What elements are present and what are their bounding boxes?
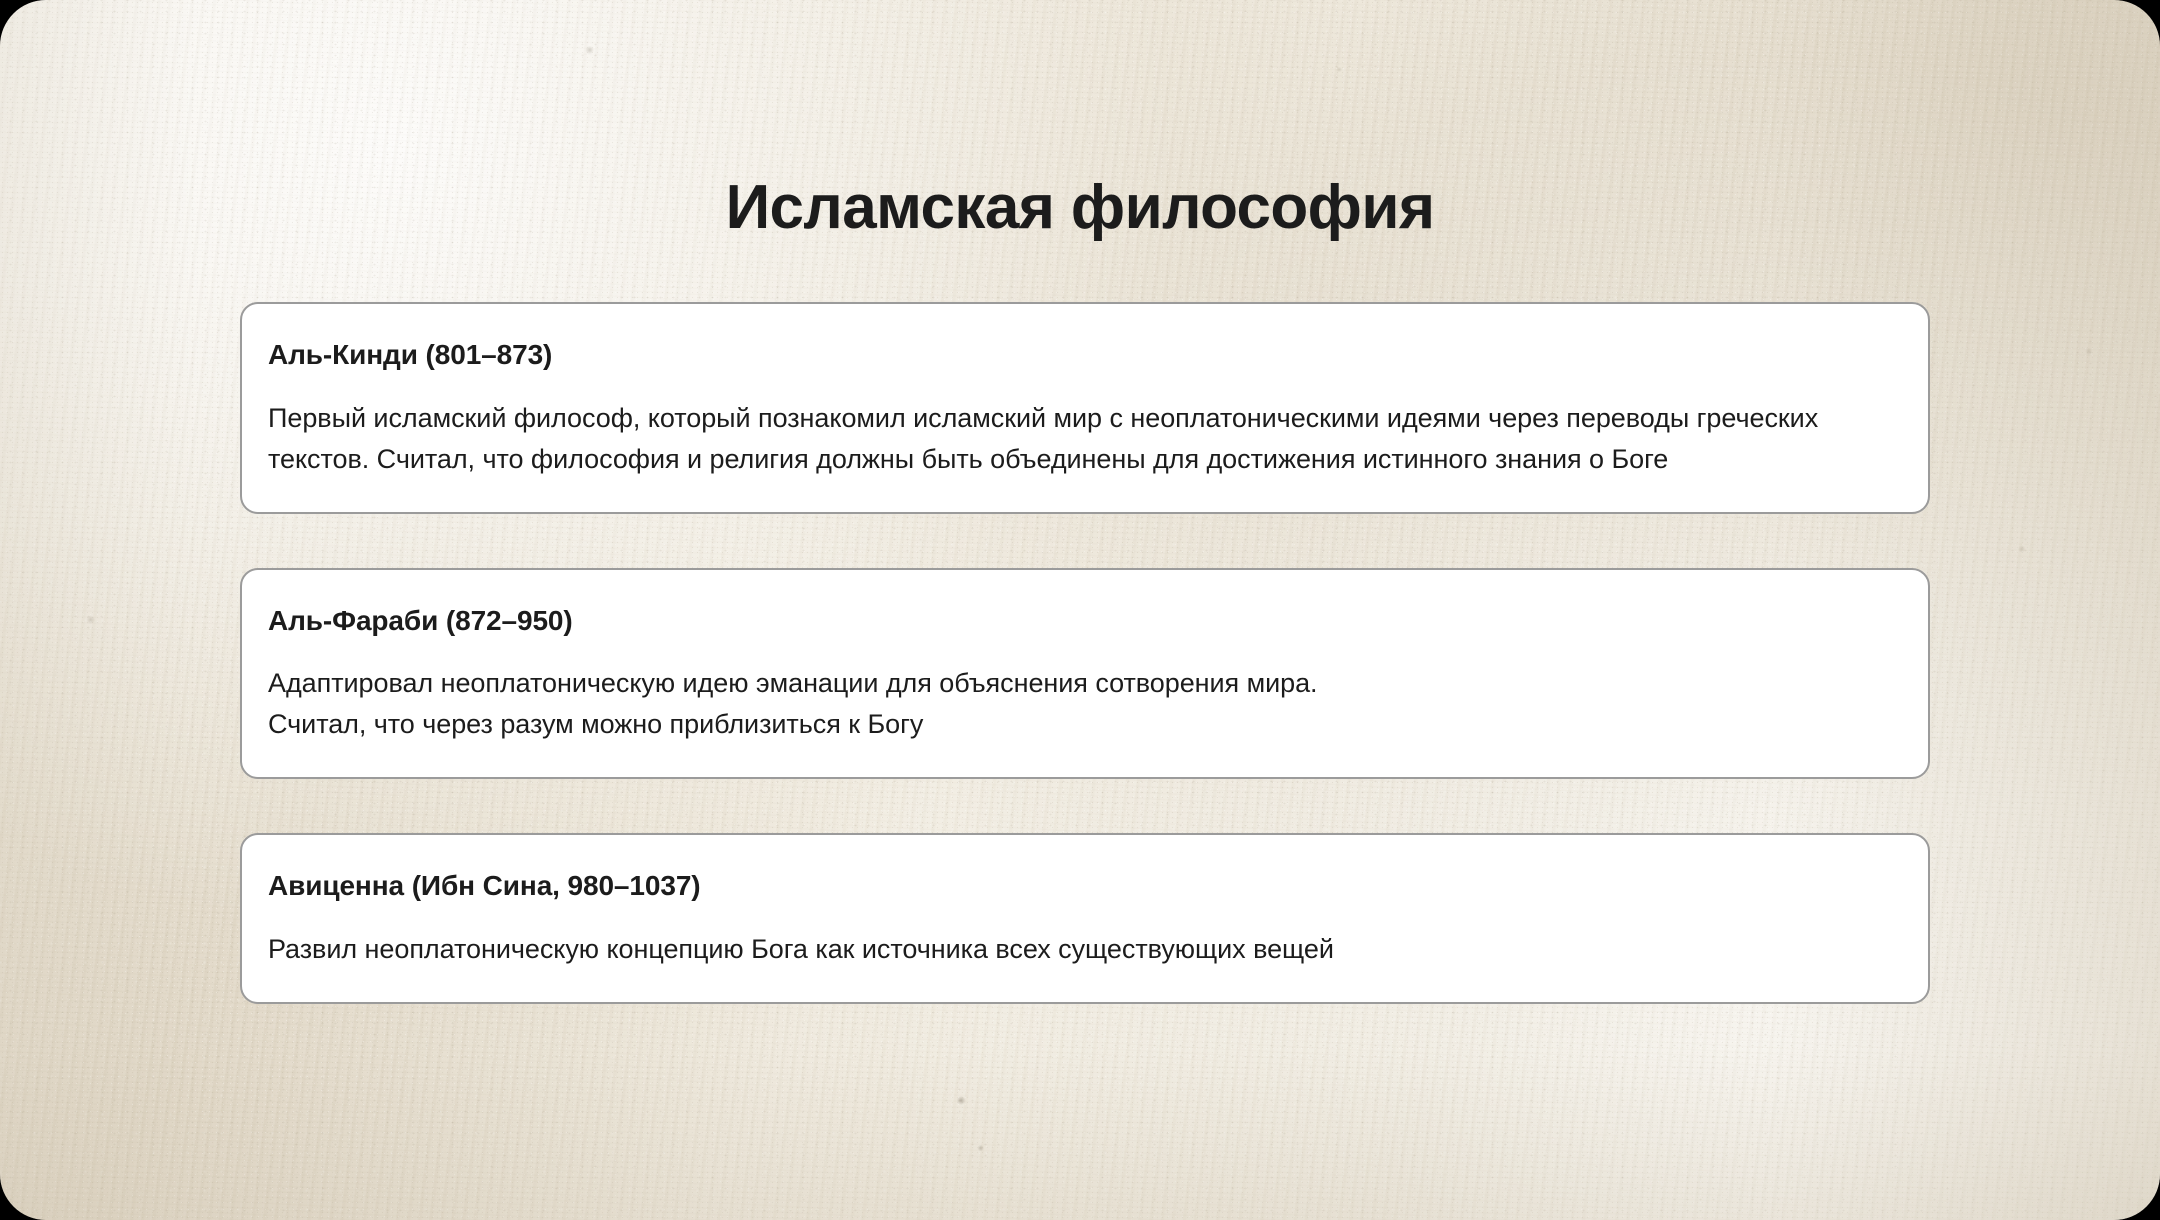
philosopher-name-and-dates: Аль-Фараби (872–950) bbox=[268, 604, 1902, 638]
philosopher-name-and-dates: Аль-Кинди (801–873) bbox=[268, 338, 1902, 372]
paper-sheet: Исламская философия Аль-Кинди (801–873) … bbox=[0, 0, 2160, 1220]
page-title: Исламская философия bbox=[0, 174, 2160, 242]
philosopher-description: Первый исламский философ, который познак… bbox=[268, 398, 1902, 480]
philosopher-card: Аль-Фараби (872–950) Адаптировал неоплат… bbox=[240, 568, 1930, 780]
philosopher-card: Авиценна (Ибн Сина, 980–1037) Развил нео… bbox=[240, 833, 1930, 1004]
philosopher-name-and-dates: Авиценна (Ибн Сина, 980–1037) bbox=[268, 869, 1902, 903]
philosopher-card: Аль-Кинди (801–873) Первый исламский фил… bbox=[240, 302, 1930, 514]
philosopher-description: Развил неоплатоническую концепцию Бога к… bbox=[268, 929, 1902, 970]
philosopher-description: Адаптировал неоплатоническую идею эманац… bbox=[268, 663, 1902, 745]
slide-content: Исламская философия Аль-Кинди (801–873) … bbox=[0, 0, 2160, 1220]
philosopher-card-list: Аль-Кинди (801–873) Первый исламский фил… bbox=[240, 302, 1930, 1004]
